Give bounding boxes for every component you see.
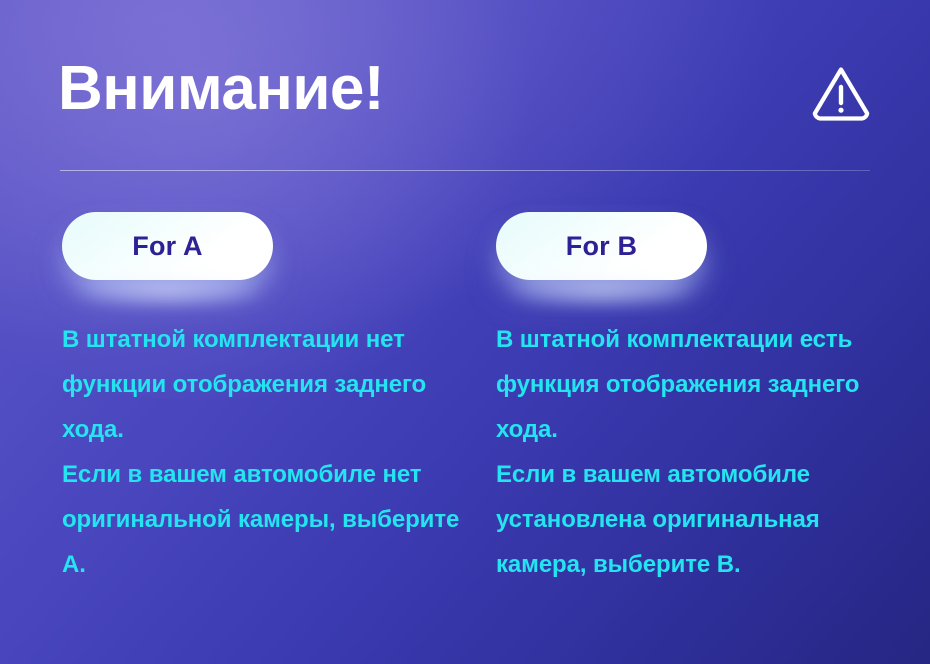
for-a-button-label: For A [132, 233, 203, 260]
option-a-paragraph-1: В штатной комплектации нет функции отобр… [62, 317, 462, 452]
warning-triangle-icon [810, 64, 872, 122]
for-b-button-label: For B [566, 233, 638, 260]
option-a-paragraph-2: Если в вашем автомобиле нет оригинальной… [62, 452, 462, 587]
option-column-a: For A В штатной комплектации нет функции… [62, 212, 462, 280]
for-b-button[interactable]: For B [496, 212, 707, 280]
option-b-paragraph-1: В штатной комплектации есть функция отоб… [496, 317, 896, 452]
option-column-b: For B В штатной комплектации есть функци… [496, 212, 896, 280]
option-b-description: В штатной комплектации есть функция отоб… [496, 317, 896, 587]
warning-slide: Внимание! For A В штатной комплектации н… [0, 0, 930, 664]
option-b-paragraph-2: Если в вашем автомобиле установлена ориг… [496, 452, 896, 587]
header-divider [60, 170, 870, 171]
page-title: Внимание! [58, 52, 384, 126]
for-a-button[interactable]: For A [62, 212, 273, 280]
slide-header: Внимание! [0, 0, 930, 170]
option-a-description: В штатной комплектации нет функции отобр… [62, 317, 462, 587]
